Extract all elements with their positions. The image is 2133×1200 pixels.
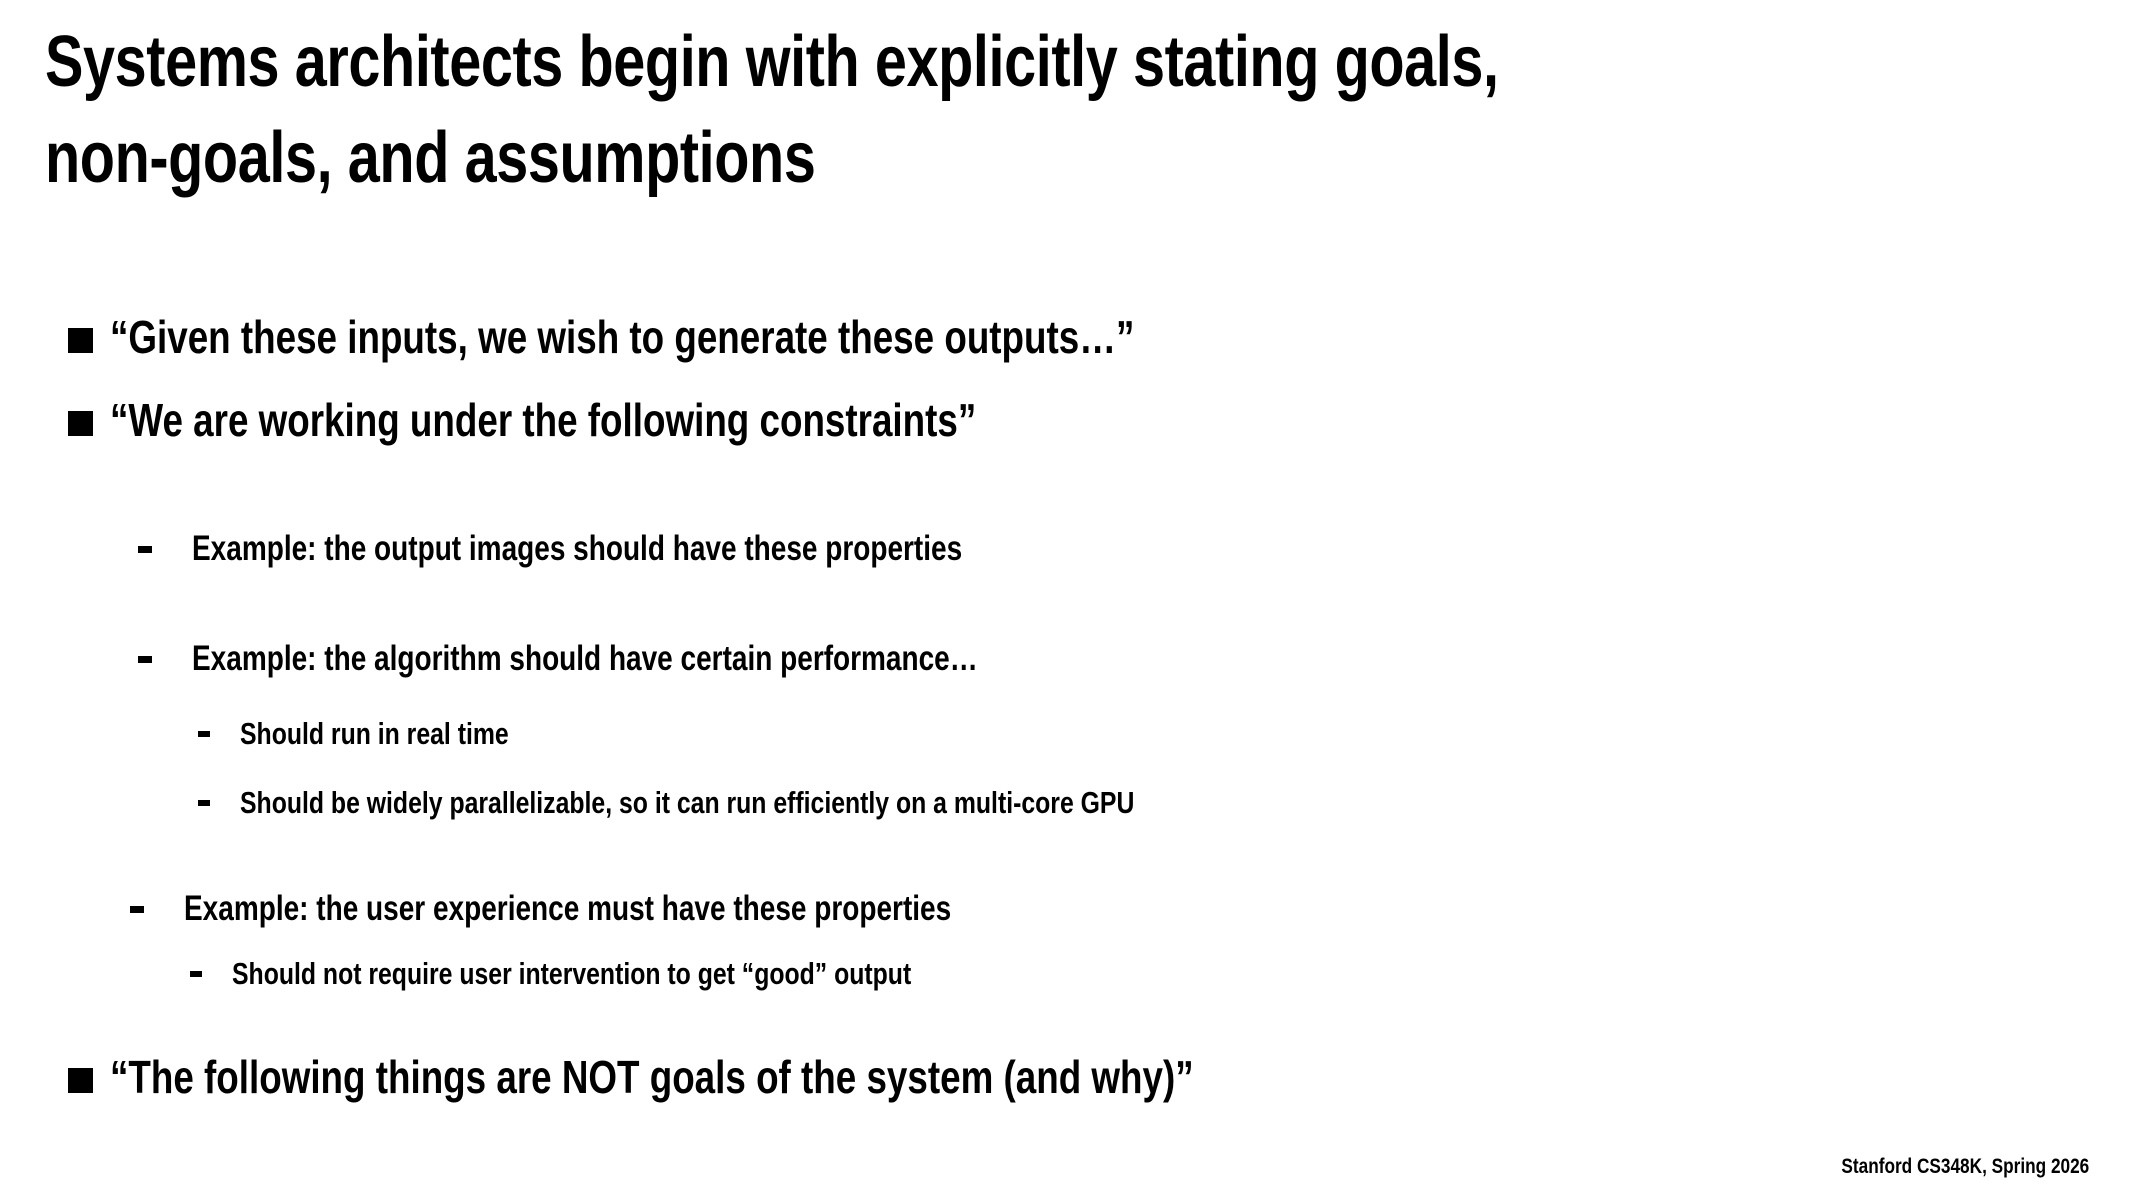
bullet-text: “We are working under the following cons… bbox=[110, 393, 976, 447]
slide-footer: Stanford CS348K, Spring 2026 bbox=[1841, 1154, 2089, 1180]
bullet-item-level-2: Example: the algorithm should have certa… bbox=[138, 638, 1174, 680]
bullet-item-level-3: Should run in real time bbox=[198, 715, 576, 753]
bullet-text: “The following things are NOT goals of t… bbox=[110, 1050, 1194, 1104]
page-title-line-1: Systems architects begin with explicitly… bbox=[45, 14, 1661, 110]
bullet-text: Should run in real time bbox=[240, 715, 509, 753]
bullet-item-level-2: Example: the user experience must have t… bbox=[130, 888, 1143, 930]
bullet-item-level-1: “We are working under the following cons… bbox=[46, 393, 1193, 447]
bullet-item-level-3: Should be widely parallelizable, so it c… bbox=[198, 784, 1358, 822]
bullet-text: Should not require user intervention to … bbox=[232, 955, 911, 993]
bullet-item-level-2: Example: the output images should have t… bbox=[138, 528, 1155, 570]
bullet-item-level-1: “Given these inputs, we wish to generate… bbox=[46, 310, 1391, 364]
page-title: Systems architects begin with explicitly… bbox=[45, 14, 2065, 206]
page-title-line-2: non-goals, and assumptions bbox=[45, 110, 1661, 206]
bullet-text: Example: the algorithm should have certa… bbox=[192, 638, 978, 680]
bullet-text: Example: the user experience must have t… bbox=[184, 888, 951, 930]
bullet-item-level-1: “The following things are NOT goals of t… bbox=[46, 1050, 1465, 1104]
bullet-item-level-3: Should not require user intervention to … bbox=[190, 955, 1081, 993]
bullet-text: Should be widely parallelizable, so it c… bbox=[240, 784, 1134, 822]
bullet-text: Example: the output images should have t… bbox=[192, 528, 962, 570]
bullet-text: “Given these inputs, we wish to generate… bbox=[110, 310, 1134, 364]
slide-canvas: Systems architects begin with explicitly… bbox=[0, 0, 2133, 1200]
